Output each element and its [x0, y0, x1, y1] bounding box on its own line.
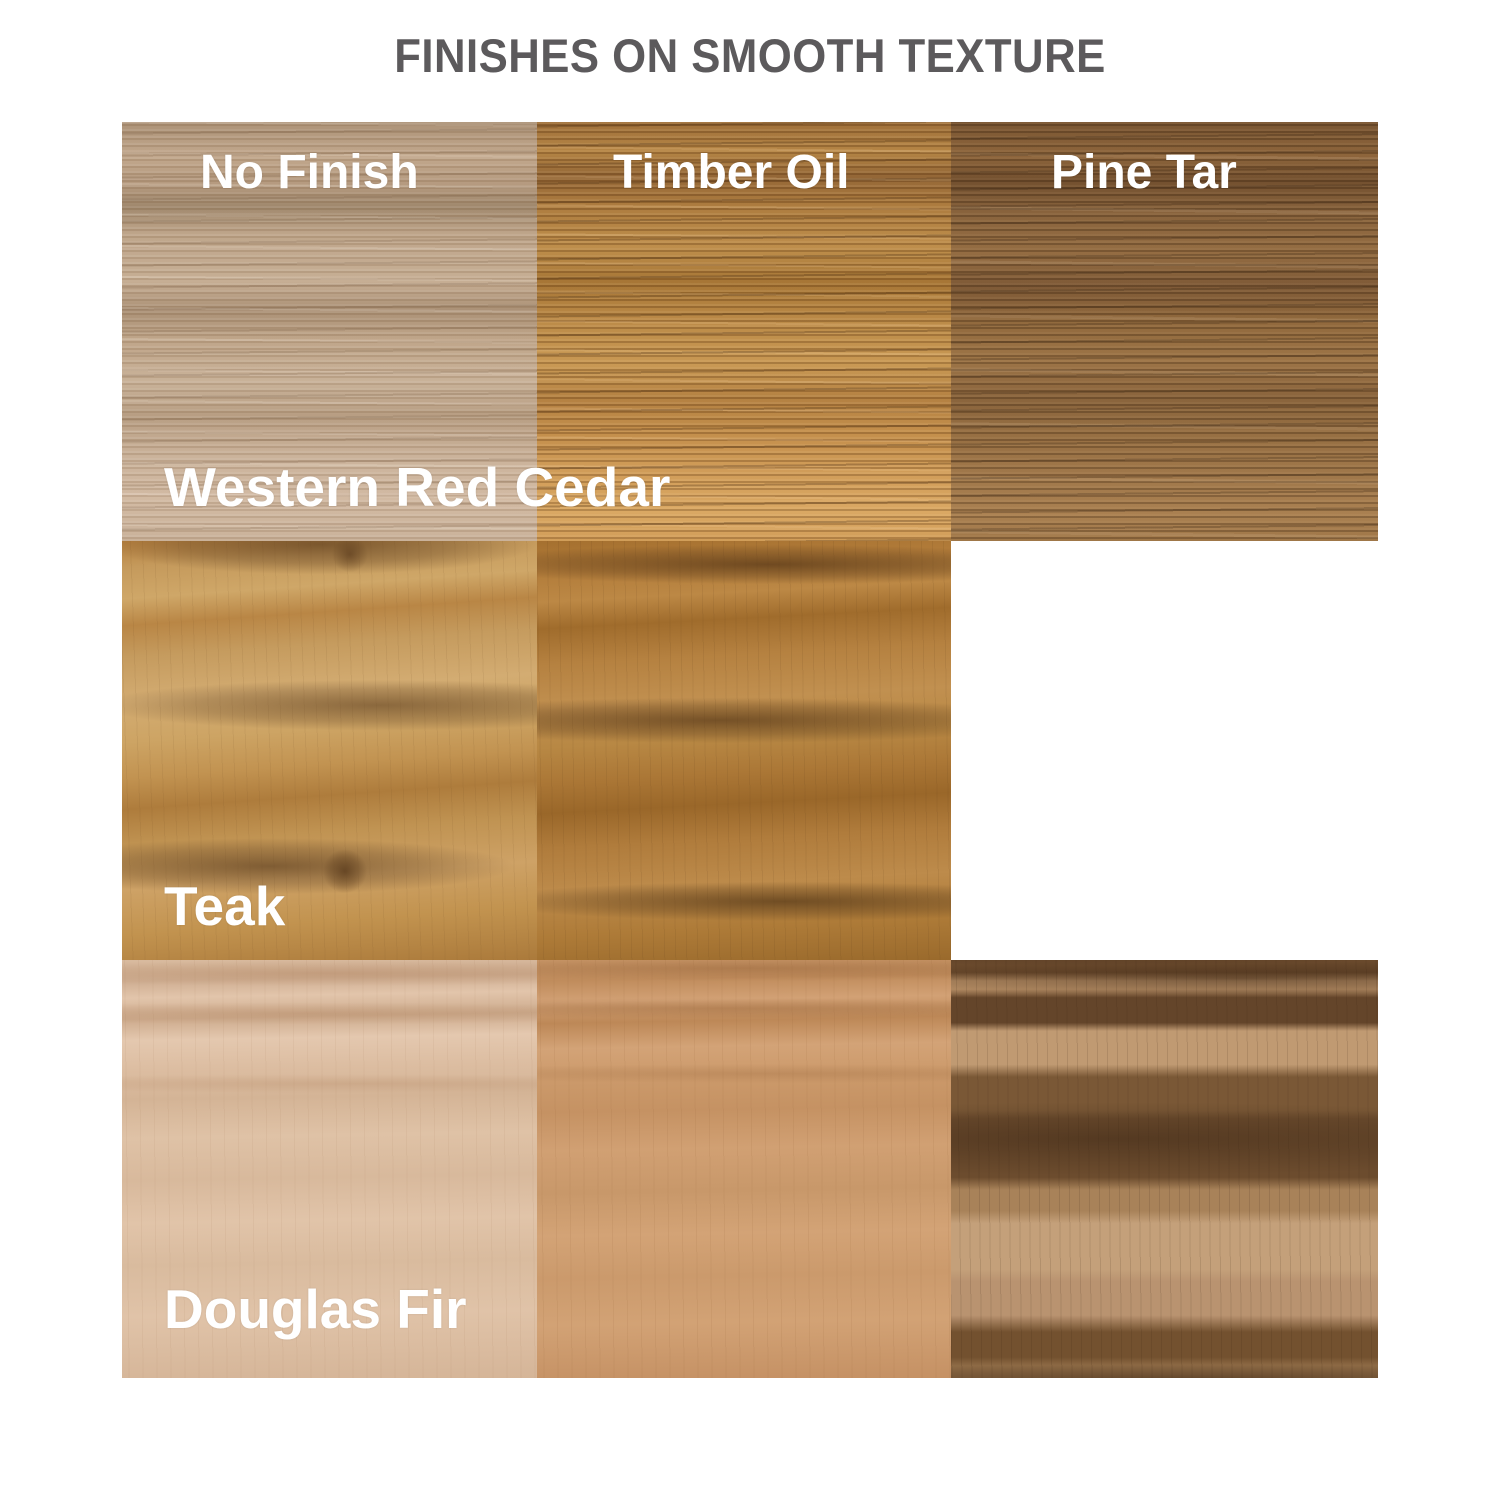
wood-grain-texture [537, 960, 951, 1378]
column-header-pine-tar: Pine Tar [1051, 149, 1237, 197]
column-header-timber-oil: Timber Oil [613, 149, 850, 197]
row-header-teak: Teak [164, 879, 285, 934]
swatch-teak-timber-oil[interactable] [537, 541, 951, 960]
row-header-western-red-cedar: Western Red Cedar [164, 460, 670, 515]
page-title: FINISHES ON SMOOTH TEXTURE [53, 28, 1448, 83]
swatch-douglas-fir-timber-oil[interactable] [537, 960, 951, 1378]
wood-grain-texture [537, 541, 951, 960]
column-header-no-finish: No Finish [200, 149, 419, 197]
row-header-douglas-fir: Douglas Fir [164, 1282, 467, 1337]
swatch-teak-pine-tar-empty [951, 541, 1378, 960]
wood-finish-sample-grid: No Finish Timber Oil Pine Tar Western Re… [122, 122, 1378, 1378]
swatch-douglas-fir-pine-tar[interactable] [951, 960, 1378, 1378]
wood-grain-texture [951, 960, 1378, 1378]
